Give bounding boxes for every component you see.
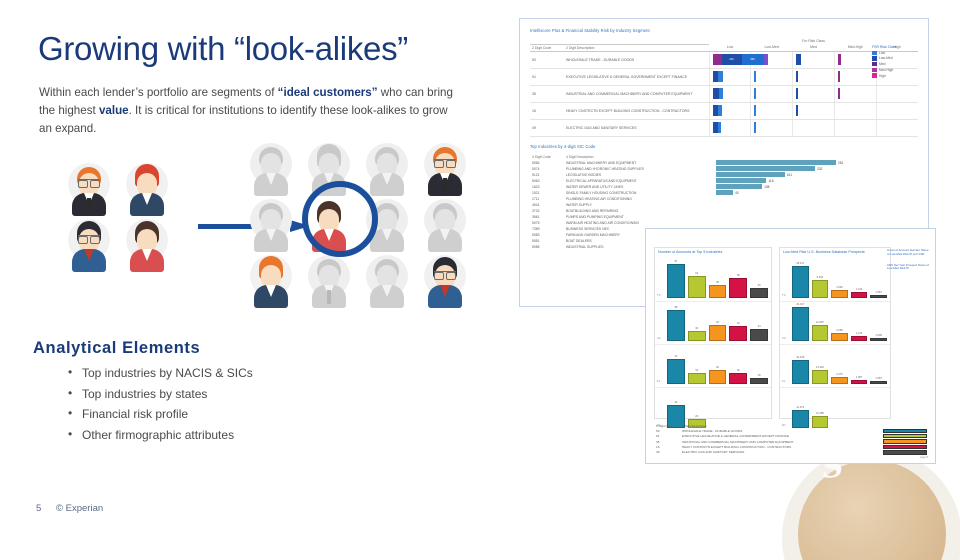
chart-bar: 42 — [729, 326, 747, 341]
cell-risk-bar — [834, 119, 876, 136]
cell-code: 5085 — [530, 244, 564, 250]
chart-bar: 72 — [667, 359, 685, 384]
legend-row: 49ELECTRIC GAS AND SANITARY SERVICES — [654, 450, 927, 455]
chart-left-rows: TX9762385830CA8830464234FL7232403218NY66… — [655, 259, 771, 431]
chart-bar-group: 24,01712,0873,0891,1321,009 — [792, 303, 887, 341]
risk-bar-segment — [754, 71, 756, 82]
chart-bar-fill — [870, 381, 887, 384]
chart-bar-label: 28,417 — [792, 262, 809, 265]
cell-risk-bar — [793, 68, 835, 85]
analytical-elements-heading: Analytical Elements — [33, 339, 200, 358]
chart-right-title: Low-Med Risk U.S. Business Database Pros… — [780, 248, 890, 256]
chart-panel-row: CA8830464234 — [655, 302, 771, 345]
cell-risk-bar — [793, 102, 835, 119]
cell-risk-bar: 216365 — [709, 51, 751, 68]
risk-by-industry-table: For Risk Class 2 Digit Code 2 Digit Desc… — [530, 38, 918, 137]
legend-item: Med-High — [872, 68, 918, 73]
chart-bar-fill — [792, 360, 809, 384]
risk-bar-segment — [713, 54, 722, 65]
legend-label: Med — [879, 62, 885, 66]
chart-bar: 88 — [667, 310, 685, 341]
chart-bar: 2,375 — [831, 377, 848, 384]
chart-bar-fill — [870, 295, 887, 298]
chart-bar-label: 1,009 — [870, 334, 887, 337]
col-med-high: Med-High — [834, 44, 876, 51]
cell-risk-bar — [751, 85, 793, 102]
chart-bar-label: 3,089 — [831, 329, 848, 332]
cell-risk-bar — [751, 119, 793, 136]
annotation-count-of-account: Count of Account Number Name of Low-Med … — [887, 249, 929, 257]
chart-bar-label: 26 — [688, 415, 706, 418]
chart-bar: 5,394 — [812, 280, 829, 298]
chart-bar-fill — [792, 266, 809, 298]
legend-swatch — [872, 68, 877, 73]
cell-code: 35 — [530, 85, 564, 102]
chart-bar-label: 1,014 — [851, 288, 868, 291]
chart-bar: 30 — [688, 331, 706, 342]
chart-bar: 1,087 — [870, 295, 887, 298]
body-text-1: Within each lender’s portfolio are segme… — [39, 86, 278, 99]
table-row[interactable]: 49ELECTRIC GAS AND SANITARY SERVICES — [530, 119, 918, 136]
chart-panel-row: TX9762385830 — [655, 259, 771, 302]
chart-bar-label: 40 — [709, 366, 727, 369]
sic-bar — [716, 160, 836, 165]
chart-bar: 28,417 — [792, 266, 809, 298]
chart-bar: 22,235 — [792, 360, 809, 384]
chart-row-tick: CA — [782, 336, 786, 340]
coffee-cup-photo: S — [782, 448, 960, 560]
chart-bar-fill — [667, 310, 685, 341]
chart-bar-label: 18 — [750, 374, 768, 377]
table-row[interactable]: 35INDUSTRIAL AND COMMERCIAL MACHINERY AN… — [530, 85, 918, 102]
legend-swatch — [872, 62, 877, 67]
report-title-intelliscore: Intelliscore Plus & Financial Stability … — [530, 28, 918, 33]
chart-bar-label: 1,132 — [851, 332, 868, 335]
chart-bar-label: 22,235 — [792, 356, 809, 359]
chart-bar-label: 1,692 — [831, 286, 848, 289]
chart-bar-fill — [729, 278, 747, 298]
risk-table-body: 50WHOLESALE TRADE - DURABLE GOODS2163659… — [530, 51, 918, 136]
chart-panel-row: TX28,4175,3941,6921,0141,087 — [780, 259, 890, 302]
legend-item: High — [872, 73, 918, 78]
chart-bar-label: 12,087 — [812, 321, 829, 324]
chart-bar-fill — [688, 276, 706, 298]
table-row[interactable]: 16HEAVY CNSTRCTN EXCEPT BUILDING CONSTRU… — [530, 102, 918, 119]
page-number: 5 — [36, 503, 56, 514]
cell-risk-bar — [709, 68, 751, 85]
legend-swatch — [872, 56, 877, 61]
cell-risk-bar — [876, 102, 918, 119]
legend-item: Med — [872, 62, 918, 67]
legend-code: 49 — [654, 450, 680, 455]
chart-bar-label: 1,087 — [851, 376, 868, 379]
chart-bar-fill — [667, 264, 685, 298]
chart-bar: 1,132 — [851, 336, 868, 341]
chart-bar: 62 — [688, 276, 706, 298]
chart-right-rows: TX28,4175,3941,6921,0141,087CA24,01712,0… — [780, 259, 890, 431]
sic-bar — [716, 166, 815, 171]
sic-bar-value: 40 — [735, 191, 739, 195]
chart-bar-label: 72 — [667, 355, 685, 358]
avatar-pool-3 — [364, 142, 410, 196]
col-2-digit-description: 2 Digit Description — [564, 44, 709, 51]
chart-bar-label: 42 — [729, 322, 747, 325]
risk-bar-segment — [838, 88, 840, 99]
chart-bar-label: 30 — [750, 284, 768, 287]
cell-description: INDUSTRIAL AND COMMERCIAL MACHINERY AND … — [564, 85, 709, 102]
risk-bar-segment — [838, 71, 840, 82]
chart-bar-label: 34 — [750, 325, 768, 328]
chart-bar-label: 62 — [688, 272, 706, 275]
cell-risk-bar — [709, 85, 751, 102]
cell-risk-bar — [876, 85, 918, 102]
chart-bar-fill — [750, 378, 768, 384]
chart-bar-label: 97 — [667, 260, 685, 263]
chart-bar-label: 32 — [729, 369, 747, 372]
chart-bar: 14,318 — [812, 370, 829, 384]
risk-bar-segment — [796, 54, 801, 65]
legend-item: Low — [872, 51, 918, 56]
chart-bar-label: 14,318 — [812, 366, 829, 369]
chart-bar-fill — [729, 373, 747, 384]
chart-bar-label: 10,485 — [812, 412, 829, 415]
chart-row-tick: TX — [782, 293, 786, 297]
chart-bar-group: 7232403218 — [667, 346, 768, 384]
sic-bar-value: 281 — [838, 161, 843, 165]
annotation-net-new-prospect: CRS Net Year Prospect Name of Low-Med Ri… — [887, 264, 929, 272]
cell-risk-bar — [793, 51, 835, 68]
cell-risk-bar — [834, 85, 876, 102]
chart-panel-row: FL7232403218 — [655, 345, 771, 388]
list-item: Other firmographic attributes — [66, 425, 253, 446]
legend-body: 50WHOLESALE TRADE - DURABLE GOODS91EXECU… — [654, 428, 927, 455]
avatar-source-2 — [124, 162, 170, 216]
cell-risk-bar — [834, 51, 876, 68]
chart-prospects: Low-Med Risk U.S. Business Database Pros… — [779, 247, 891, 419]
look-alike-illustration — [40, 140, 490, 308]
avatar-source-4 — [124, 218, 170, 272]
chart-bar-label: 38 — [709, 281, 727, 284]
cell-risk-bar — [709, 102, 751, 119]
avatar-pool-7 — [422, 198, 468, 252]
page-title: Growing with “look-alikes” — [38, 30, 408, 68]
cell-description: HEAVY CNSTRCTN EXCEPT BUILDING CONSTRUCT… — [564, 102, 709, 119]
legend-label: Low — [879, 51, 885, 55]
chart-bar: 1,087 — [851, 380, 868, 384]
chart-bar-fill — [688, 331, 706, 342]
chart-row-tick: FL — [657, 379, 660, 383]
chart-number-of-accounts: Number of Accounts at Top 5 Industries T… — [654, 247, 772, 419]
chart-row-tick: TX — [657, 293, 661, 297]
sic-bar-value: 108 — [764, 185, 769, 189]
legend-title: FSR Risk Class — [872, 45, 918, 49]
cell-risk-bar — [709, 119, 751, 136]
analytical-elements-list: Top industries by NACIS & SICs Top indus… — [66, 363, 253, 446]
risk-bar-segment — [796, 105, 798, 116]
risk-bar-segment — [796, 88, 798, 99]
chart-bar-fill — [750, 329, 768, 341]
chart-row-tick: CA — [657, 336, 661, 340]
focus-ring-highlight — [302, 181, 378, 257]
avatar-pool-1 — [248, 142, 294, 196]
avatar-source-1 — [66, 162, 112, 216]
chart-annotations: Count of Account Number Name of Low-Med … — [887, 249, 929, 278]
avatar-pool-11 — [422, 254, 468, 308]
avatar-pool-10 — [364, 254, 410, 308]
chart-bar-fill — [831, 290, 848, 298]
list-item: Financial risk profile — [66, 404, 253, 425]
legend-swatch — [872, 51, 877, 56]
chart-bar: 18 — [750, 378, 768, 384]
chart-bar-label: 46 — [709, 321, 727, 324]
cell-risk-bar — [834, 68, 876, 85]
legend-swatch — [883, 439, 927, 443]
chart-panel-row: FL22,23514,3182,3751,0871,087 — [780, 345, 890, 388]
sic-bar-value: 161 — [787, 173, 792, 177]
chart-bar: 1,087 — [870, 381, 887, 384]
legend-rows: LowLow-MedMedMed-HighHigh — [872, 51, 918, 78]
cell-code: 49 — [530, 119, 564, 136]
table-header-row: 2 Digit Code 2 Digit Description Low Low… — [530, 44, 918, 51]
sic-bar — [716, 190, 733, 195]
chart-bar: 32 — [729, 373, 747, 384]
chart-bar-fill — [831, 333, 848, 341]
slide-body-text: Within each lender’s portfolio are segme… — [39, 84, 459, 138]
legend-table: 5 Digit Code 2 Digit Description 50WHOLE… — [654, 423, 927, 455]
chart-bar-group: 9762385830 — [667, 260, 768, 298]
risk-bar-segment — [718, 105, 722, 116]
risk-bar-segment — [796, 71, 798, 82]
sic-bar-value: 118 — [768, 179, 773, 183]
cell-code: 50 — [530, 51, 564, 68]
chart-bar-fill — [709, 325, 727, 341]
sic-bar — [716, 184, 762, 189]
chart-bar: 40 — [709, 370, 727, 384]
body-emphasis-ideal-customers: “ideal customers” — [278, 86, 378, 99]
glasses-icon — [78, 235, 100, 241]
legend-swatch — [883, 450, 927, 454]
cell-risk-bar — [751, 102, 793, 119]
chart-bar: 38 — [709, 285, 727, 298]
copyright-text: © Experian — [56, 503, 103, 514]
chart-bar-group: 8830464234 — [667, 303, 768, 341]
list-item: Top industries by NACIS & SICs — [66, 363, 253, 384]
chart-bar-label: 5,394 — [812, 276, 829, 279]
chart-bar-group: 22,23514,3182,3751,0871,087 — [792, 346, 887, 384]
legend-swatch — [872, 73, 877, 78]
chart-bar-fill — [812, 325, 829, 341]
chart-bar-label: 32 — [688, 369, 706, 372]
chart-bar: 1,009 — [870, 338, 887, 341]
chart-bar-fill — [792, 307, 809, 341]
risk-bar-segment — [754, 122, 756, 133]
risk-bar-segment — [754, 105, 756, 116]
cell-risk-bar — [876, 119, 918, 136]
table-row[interactable]: 50WHOLESALE TRADE - DURABLE GOODS216365 — [530, 51, 918, 68]
avatar-pool-8 — [248, 254, 294, 308]
cell-description: WHOLESALE TRADE - DURABLE GOODS — [564, 51, 709, 68]
risk-bar-segment — [718, 71, 723, 82]
chart-bar-label: 24,017 — [792, 303, 809, 306]
chart-panel-row: CA24,01712,0873,0891,1321,009 — [780, 302, 890, 345]
risk-bar-segment — [838, 54, 841, 65]
chart-bar-fill — [851, 336, 868, 341]
chart-bar: 97 — [667, 264, 685, 298]
chart-bar-fill — [750, 288, 768, 299]
col-low: Low — [709, 44, 751, 51]
cell-risk-bar — [834, 102, 876, 119]
report-panel-bottom[interactable]: Number of Accounts at Top 5 Industries T… — [645, 228, 936, 464]
chart-bar: 32 — [688, 373, 706, 384]
avatar-pool-9 — [306, 254, 352, 308]
avatar-pool-4 — [422, 142, 468, 196]
legend-item: Low-Med — [872, 56, 918, 61]
risk-bar-segment — [754, 88, 756, 99]
chart-bar-fill — [729, 326, 747, 341]
chart-bar-label: 30 — [688, 327, 706, 330]
chart-bar-fill — [851, 292, 868, 298]
legend-swatch-cell — [881, 450, 927, 455]
chart-left-title: Number of Accounts at Top 5 Industries — [655, 248, 771, 256]
legend-swatch — [883, 434, 927, 438]
list-item: Top industries by states — [66, 384, 253, 405]
table-row[interactable]: 91EXECUTIVE LEGISLATIVE & GENERAL GOVERN… — [530, 68, 918, 85]
avatar-source-3 — [66, 218, 112, 272]
chart-bar: 24,017 — [792, 307, 809, 341]
chart-bar-label: 58 — [729, 274, 747, 277]
cell-risk-bar — [751, 51, 793, 68]
chart-bar-fill — [709, 285, 727, 298]
fsr-risk-class-legend: FSR Risk Class LowLow-MedMedMed-HighHigh — [872, 45, 918, 79]
cell-code: 91 — [530, 68, 564, 85]
report-title-sic: Top Industries by 4-digit SIC Code — [530, 144, 918, 149]
sic-bar — [716, 172, 785, 177]
body-emphasis-value: value — [99, 104, 129, 117]
chart-bar: 12,087 — [812, 325, 829, 341]
chart-bar: 3,089 — [831, 333, 848, 341]
chart-bar-label: 88 — [667, 306, 685, 309]
chart-bar: 1,692 — [831, 290, 848, 298]
avatar-pool-5 — [248, 198, 294, 252]
chart-bar: 30 — [750, 288, 768, 299]
cell-description: EXECUTIVE LEGISLATIVE & GENERAL GOVERNME… — [564, 68, 709, 85]
legend-label: High — [879, 74, 886, 78]
chart-bar-label: 1,087 — [870, 291, 887, 294]
cell-risk-bar — [793, 119, 835, 136]
industry-color-legend: 5 Digit Code 2 Digit Description 50WHOLE… — [654, 423, 927, 455]
avatar-tie — [87, 198, 91, 212]
chart-bar: 1,014 — [851, 292, 868, 298]
risk-bar-segment: 216 — [722, 54, 742, 65]
chart-bar-label: 11,073 — [792, 406, 809, 409]
col-2-digit-code: 2 Digit Code — [530, 44, 564, 51]
risk-bar-segment — [719, 88, 723, 99]
chart-bar-label: 2,375 — [831, 373, 848, 376]
cell-risk-bar — [793, 85, 835, 102]
chart-row-tick: FL — [782, 379, 785, 383]
col-low-med: Low-Med — [751, 44, 793, 51]
sic-bar-value: 232 — [817, 167, 822, 171]
legend-swatch — [883, 429, 927, 433]
chart-bar-fill — [688, 373, 706, 384]
chart-bar-fill — [812, 280, 829, 298]
cell-risk-bar — [751, 68, 793, 85]
glasses-icon — [78, 179, 100, 185]
chart-bar: 58 — [729, 278, 747, 298]
chart-bar-fill — [851, 380, 868, 384]
cell-code: 16 — [530, 102, 564, 119]
risk-bar-segment — [718, 122, 721, 133]
sic-bar — [716, 178, 766, 183]
legend-label: Low-Med — [879, 56, 893, 60]
chart-bar-fill — [870, 338, 887, 341]
chart-bar-label: 1,087 — [870, 377, 887, 380]
chart-bar-fill — [831, 377, 848, 384]
col-med: Med — [793, 44, 835, 51]
panel-page-label: page 8 — [920, 456, 928, 459]
cell-description: ELECTRIC GAS AND SANITARY SERVICES — [564, 119, 709, 136]
chart-bar-fill — [812, 370, 829, 384]
slide-footer: 5© Experian — [36, 503, 103, 514]
chart-bar: 46 — [709, 325, 727, 341]
chart-bar-label: 66 — [667, 401, 685, 404]
legend-label: Med-High — [879, 68, 893, 72]
chart-bar-group: 28,4175,3941,6921,0141,087 — [792, 260, 887, 298]
legend-swatch — [883, 445, 927, 449]
chart-bar: 34 — [750, 329, 768, 341]
legend-description: ELECTRIC GAS AND SANITARY SERVICES — [680, 450, 881, 455]
chart-bar-fill — [709, 370, 727, 384]
chart-bar-fill — [667, 359, 685, 384]
